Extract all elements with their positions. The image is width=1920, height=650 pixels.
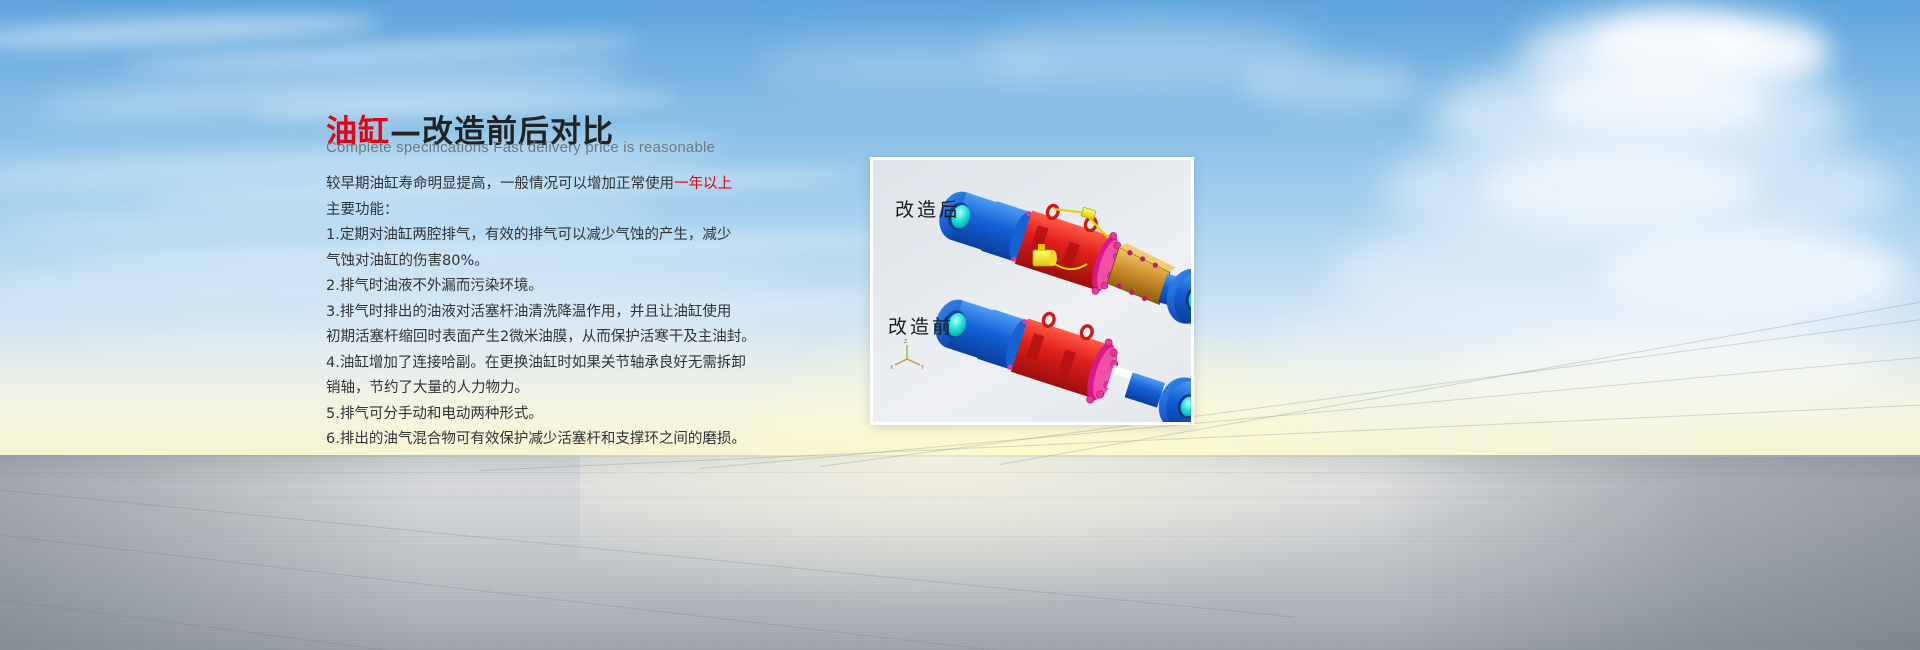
feature-item-line: 2.排气时油液不外漏而污染环境。 — [326, 274, 756, 300]
ground-seam — [0, 592, 1920, 593]
ground-seam — [0, 497, 1920, 498]
horizon-line — [0, 455, 1920, 457]
label-after-modification: 改造后 — [895, 195, 961, 222]
feature-item-line: 4.油缸增加了连接哈副。在更换油缸时如果关节轴承良好无需拆卸 — [326, 351, 756, 377]
intro-line: 较早期油缸寿命明显提高，一般情况可以增加正常使用一年以上 — [326, 172, 756, 198]
ground-shadow-right — [1380, 455, 1920, 650]
intro-text: 较早期油缸寿命明显提高，一般情况可以增加正常使用 — [326, 176, 674, 192]
banner-stage: 油缸—改造前后对比 Complete specifications Fast d… — [0, 0, 1920, 650]
feature-description: 较早期油缸寿命明显提高，一般情况可以增加正常使用一年以上 主要功能： 1.定期对… — [326, 172, 756, 453]
axis-triad-icon: Z X Y — [890, 339, 925, 371]
functions-label: 主要功能： — [326, 198, 756, 224]
feature-item-line: 销轴，节约了大量的人力物力。 — [326, 376, 756, 402]
ground-seam — [0, 536, 1920, 537]
svg-text:Y: Y — [920, 365, 925, 371]
page-subtitle: Complete specifications Fast delivery pr… — [326, 139, 715, 156]
ground-seam — [0, 472, 1920, 473]
product-image-panel: Z X Y 改造后 改造前 — [870, 157, 1194, 425]
svg-text:Z: Z — [904, 339, 908, 345]
feature-item-line: 初期活塞杆缩回时表面产生2微米油膜，从而保护活寒干及主油封。 — [326, 325, 756, 351]
intro-highlight: 一年以上 — [674, 176, 732, 192]
feature-item-line: 6.排出的油气混合物可有效保护减少活塞杆和支撑环之间的磨损。 — [326, 427, 756, 453]
label-before-modification: 改造前 — [888, 312, 954, 339]
feature-item-line: 3.排气时排出的油液对活塞杆油清洗降温作用，并且让油缸使用 — [326, 300, 756, 326]
ground-shadow-left — [0, 455, 430, 650]
feature-item-line: 5.排气可分手动和电动两种形式。 — [326, 402, 756, 428]
svg-text:X: X — [890, 365, 894, 371]
feature-item-line: 1.定期对油缸两腔排气，有效的排气可以减少气蚀的产生，减少 — [326, 223, 756, 249]
feature-item-line: 气蚀对油缸的伤害80%。 — [326, 249, 756, 275]
cloud-puff — [760, 40, 1060, 90]
ground-highlight — [580, 455, 1480, 605]
